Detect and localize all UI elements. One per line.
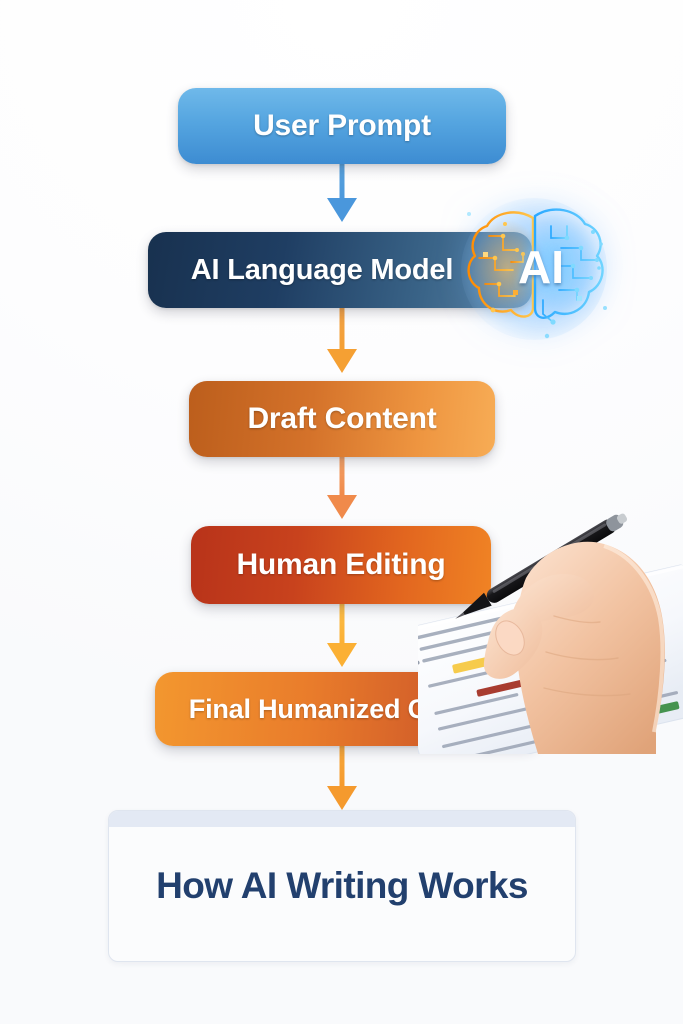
arrow-stem [340, 305, 345, 349]
diagram-canvas: User Prompt AI Language Model [0, 0, 683, 1024]
page-title: How AI Writing Works [109, 811, 575, 961]
ai-brain-circuit-icon: AI [455, 196, 613, 342]
flow-node-label: Human Editing [236, 548, 445, 582]
connector-arrow-5 [327, 744, 357, 810]
ai-brain-label: AI [505, 238, 577, 296]
arrow-stem [340, 744, 345, 786]
arrow-head-icon [327, 198, 357, 222]
flow-node-label: AI Language Model [191, 254, 453, 287]
arrow-head-icon [327, 349, 357, 373]
flow-node-label: User Prompt [253, 109, 431, 143]
arrow-head-icon [327, 643, 357, 667]
arrow-stem [340, 601, 345, 643]
connector-arrow-3 [327, 453, 357, 519]
connector-arrow-2 [327, 305, 357, 373]
arrow-stem [340, 160, 345, 202]
connector-arrow-4 [327, 601, 357, 667]
flow-node-label: Draft Content [247, 402, 436, 436]
title-card: How AI Writing Works [108, 810, 576, 962]
hand-holding-pen-photo [418, 492, 683, 754]
arrow-stem [340, 453, 345, 495]
flow-node-draft-content[interactable]: Draft Content [189, 381, 495, 457]
flow-node-user-prompt[interactable]: User Prompt [178, 88, 506, 164]
arrow-head-icon [327, 786, 357, 810]
connector-arrow-1 [327, 160, 357, 222]
arrow-head-icon [327, 495, 357, 519]
